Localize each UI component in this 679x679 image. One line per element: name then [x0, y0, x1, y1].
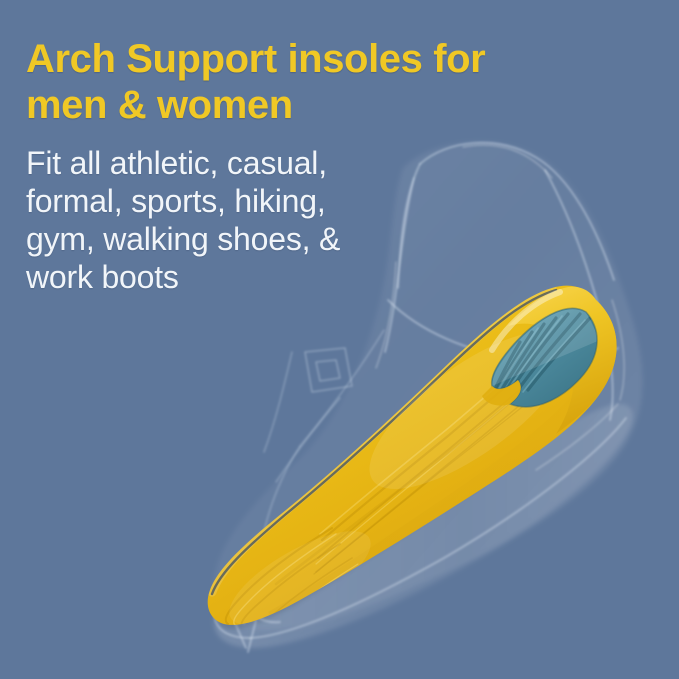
copy-block: Arch Support insoles for men & women Fit…	[26, 36, 566, 296]
product-banner: Arch Support insoles for men & women Fit…	[0, 0, 679, 679]
subcopy: Fit all athletic, casual, formal, sports…	[26, 144, 566, 296]
headline-line-1: Arch Support insoles for	[26, 36, 566, 82]
subcopy-line-1: Fit all athletic, casual,	[26, 144, 566, 182]
subcopy-line-2: formal, sports, hiking,	[26, 182, 566, 220]
subcopy-line-3: gym, walking shoes, &	[26, 220, 566, 258]
headline: Arch Support insoles for men & women	[26, 36, 566, 128]
headline-line-2: men & women	[26, 82, 566, 128]
subcopy-line-4: work boots	[26, 258, 566, 296]
